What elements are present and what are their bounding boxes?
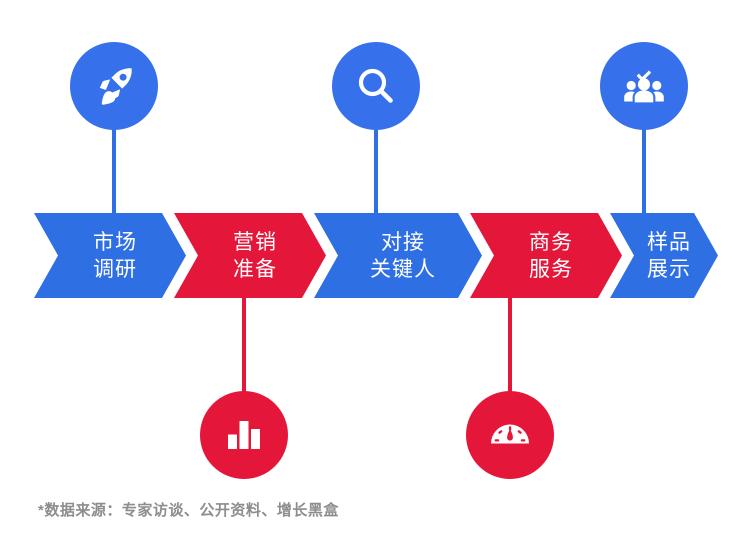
connector-line-step-5 bbox=[642, 118, 646, 218]
source-footnote: *数据来源：专家访谈、公开资料、增长黑盒 bbox=[38, 499, 339, 520]
flow-step-3[interactable]: 对接 关键人 bbox=[314, 213, 482, 298]
badge-step-2[interactable] bbox=[200, 391, 288, 479]
flow-step-4-line2: 服务 bbox=[519, 256, 573, 283]
flow-step-5[interactable]: 样品 展示 bbox=[610, 213, 718, 298]
badge-step-5[interactable] bbox=[600, 42, 688, 130]
flow-step-2-line1: 营销 bbox=[223, 229, 277, 256]
badge-step-4[interactable] bbox=[466, 391, 554, 479]
flow-step-1-line1: 市场 bbox=[83, 229, 137, 256]
connector-line-step-3 bbox=[374, 118, 378, 218]
process-flow-bar: 市场 调研 营销 准备 对接 关键人 商务 服务 样品 展示 bbox=[34, 213, 718, 298]
connector-line-step-2 bbox=[242, 292, 246, 392]
gauge-icon bbox=[487, 412, 533, 458]
rocket-icon bbox=[91, 63, 137, 109]
flow-step-4-line1: 商务 bbox=[519, 229, 573, 256]
connector-line-step-1 bbox=[112, 118, 116, 218]
connector-line-step-4 bbox=[508, 292, 512, 392]
flow-step-2-line2: 准备 bbox=[223, 256, 277, 283]
people-check-icon bbox=[620, 62, 668, 110]
flow-step-3-line1: 对接 bbox=[371, 229, 425, 256]
bar-chart-icon bbox=[223, 414, 265, 456]
flow-step-1[interactable]: 市场 调研 bbox=[34, 213, 186, 298]
badge-step-1[interactable] bbox=[70, 42, 158, 130]
flow-step-4[interactable]: 商务 服务 bbox=[470, 213, 622, 298]
search-icon bbox=[353, 63, 399, 109]
flow-step-2[interactable]: 营销 准备 bbox=[174, 213, 326, 298]
flow-step-3-line2: 关键人 bbox=[360, 256, 436, 283]
flow-step-1-line2: 调研 bbox=[83, 256, 137, 283]
flow-step-5-line1: 样品 bbox=[637, 229, 691, 256]
badge-step-3[interactable] bbox=[332, 42, 420, 130]
infographic-canvas: 市场 调研 营销 准备 对接 关键人 商务 服务 样品 展示 *数据来源：专家访… bbox=[0, 0, 750, 552]
flow-step-5-line2: 展示 bbox=[637, 256, 691, 283]
